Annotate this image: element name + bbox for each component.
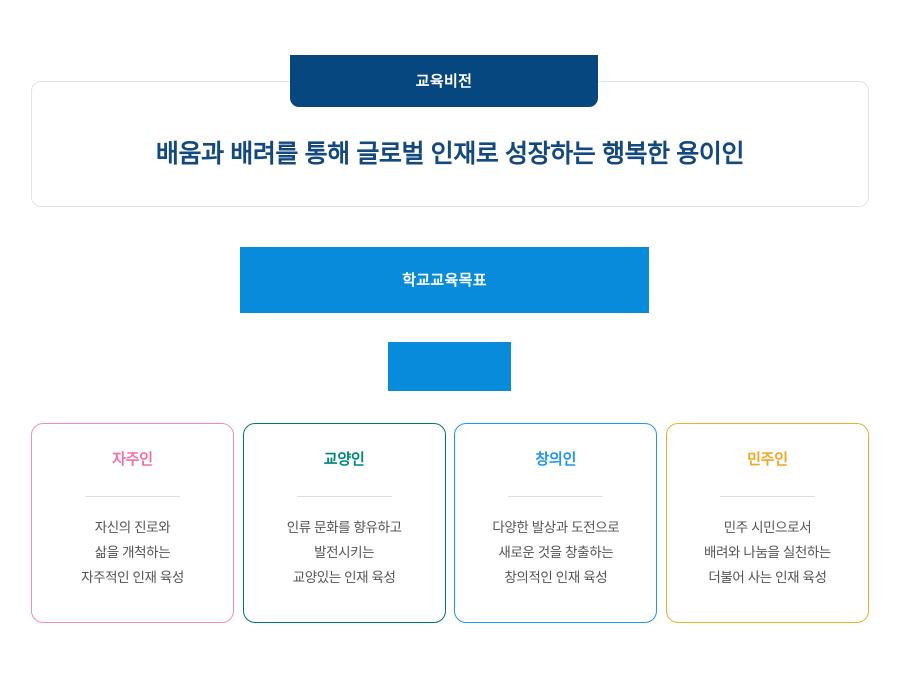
pillar-description: 민주 시민으로서 배려와 나눔을 실천하는 더불어 사는 인재 육성 [704, 515, 831, 590]
pillar-description-line: 인류 문화를 향유하고 [287, 515, 402, 540]
pillar-description-line: 창의적인 인재 육성 [492, 565, 619, 590]
pillar-title: 민주인 [747, 452, 788, 467]
pillar-description-line: 교양있는 인재 육성 [287, 565, 402, 590]
pillar-title: 창의인 [535, 452, 576, 467]
pillar-description-line: 새로운 것을 창출하는 [492, 540, 619, 565]
pillar-description-line: 자주적인 인재 육성 [81, 565, 184, 590]
pillar-divider [85, 496, 180, 497]
pillar-description-line: 다양한 발상과 도전으로 [492, 515, 619, 540]
education-vision-diagram: 교육비전 배움과 배려를 통해 글로벌 인재로 성장하는 행복한 용이인 학교교… [0, 0, 900, 674]
vision-badge-label: 교육비전 [416, 74, 472, 89]
pillar-description-line: 더불어 사는 인재 육성 [704, 565, 831, 590]
pillar-card-jajuin[interactable]: 자주인 자신의 진로와 삶을 개척하는 자주적인 인재 육성 [31, 423, 234, 623]
pillar-description-line: 배려와 나눔을 실천하는 [704, 540, 831, 565]
school-goal-bar: 학교교육목표 [240, 247, 649, 313]
pillar-description-line: 발전시키는 [287, 540, 402, 565]
pillar-card-minjuin[interactable]: 민주인 민주 시민으로서 배려와 나눔을 실천하는 더불어 사는 인재 육성 [666, 423, 869, 623]
pillar-description: 인류 문화를 향유하고 발전시키는 교양있는 인재 육성 [287, 515, 402, 590]
pillar-divider [720, 496, 815, 497]
connector-block [388, 342, 511, 391]
pillar-title: 자주인 [112, 452, 153, 467]
pillar-description: 다양한 발상과 도전으로 새로운 것을 창출하는 창의적인 인재 육성 [492, 515, 619, 590]
pillar-description-line: 민주 시민으로서 [704, 515, 831, 540]
vision-badge: 교육비전 [290, 55, 598, 107]
pillar-description-line: 자신의 진로와 [81, 515, 184, 540]
pillar-card-changuiin[interactable]: 창의인 다양한 발상과 도전으로 새로운 것을 창출하는 창의적인 인재 육성 [454, 423, 657, 623]
pillar-divider [297, 496, 392, 497]
pillar-description: 자신의 진로와 삶을 개척하는 자주적인 인재 육성 [81, 515, 184, 590]
pillar-description-line: 삶을 개척하는 [81, 540, 184, 565]
school-goal-label: 학교교육목표 [402, 273, 487, 288]
vision-section: 교육비전 배움과 배려를 통해 글로벌 인재로 성장하는 행복한 용이인 [31, 81, 869, 207]
pillar-title: 교양인 [324, 452, 365, 467]
pillar-divider [508, 496, 603, 497]
pillar-card-row: 자주인 자신의 진로와 삶을 개척하는 자주적인 인재 육성 교양인 인류 문화… [31, 423, 869, 623]
pillar-card-gyoyangin[interactable]: 교양인 인류 문화를 향유하고 발전시키는 교양있는 인재 육성 [243, 423, 446, 623]
